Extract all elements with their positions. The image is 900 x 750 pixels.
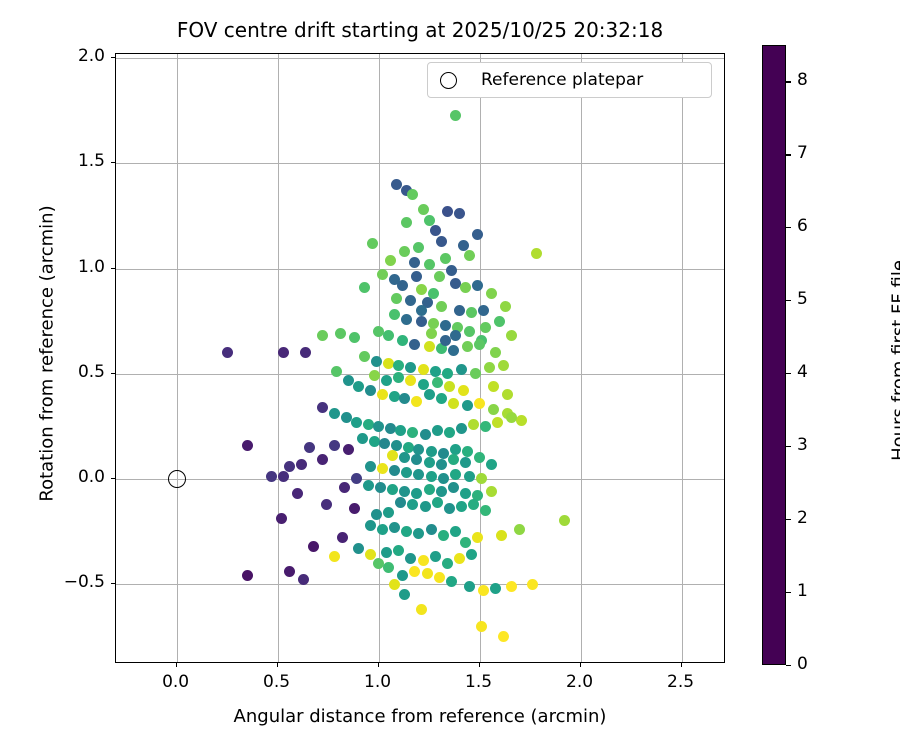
scatter-point xyxy=(242,440,253,451)
scatter-point xyxy=(413,242,424,253)
scatter-point xyxy=(379,438,390,449)
scatter-point xyxy=(516,415,527,426)
scatter-point xyxy=(486,288,497,299)
scatter-point xyxy=(278,347,289,358)
scatter-point xyxy=(474,452,485,463)
scatter-point xyxy=(446,265,457,276)
scatter-point xyxy=(468,419,479,430)
scatter-point xyxy=(359,351,370,362)
scatter-point xyxy=(276,513,287,524)
scatter-point xyxy=(440,335,451,346)
scatter-point xyxy=(448,454,459,465)
scatter-point xyxy=(450,469,461,480)
x-tick-label: 1.0 xyxy=(343,672,413,692)
colorbar-tick-mark xyxy=(786,519,791,520)
scatter-point xyxy=(405,553,416,564)
scatter-point xyxy=(304,442,315,453)
x-tick-label: 2.0 xyxy=(545,672,615,692)
colorbar-tick-label: 2 xyxy=(797,508,808,528)
scatter-point xyxy=(472,280,483,291)
x-gridline xyxy=(682,54,683,662)
scatter-point xyxy=(430,225,441,236)
scatter-point xyxy=(434,572,445,583)
scatter-point xyxy=(401,217,412,228)
scatter-point xyxy=(377,524,388,535)
scatter-point xyxy=(458,240,469,251)
scatter-point xyxy=(460,282,471,293)
scatter-point xyxy=(337,532,348,543)
scatter-point xyxy=(399,452,410,463)
scatter-point xyxy=(456,423,467,434)
scatter-point xyxy=(484,362,495,373)
scatter-point xyxy=(436,301,447,312)
scatter-point xyxy=(284,566,295,577)
colorbar-tick-label: 3 xyxy=(797,435,808,455)
scatter-point xyxy=(399,393,410,404)
scatter-point xyxy=(317,330,328,341)
y-tick-label: 0.0 xyxy=(35,467,105,487)
scatter-point xyxy=(418,204,429,215)
scatter-point xyxy=(426,446,437,457)
scatter-point xyxy=(480,322,491,333)
chart-figure: FOV centre drift starting at 2025/10/25 … xyxy=(0,0,900,750)
y-gridline xyxy=(116,584,724,585)
y-tick-label: 0.5 xyxy=(35,362,105,382)
scatter-point xyxy=(436,236,447,247)
scatter-point xyxy=(389,274,400,285)
scatter-point xyxy=(424,457,435,468)
scatter-point xyxy=(296,459,307,470)
scatter-point xyxy=(365,461,376,472)
scatter-point xyxy=(428,288,439,299)
colorbar-label: Hours from first FF file xyxy=(889,171,900,551)
scatter-point xyxy=(405,362,416,373)
scatter-point xyxy=(399,589,410,600)
scatter-point xyxy=(409,566,420,577)
y-tick-label: 1.5 xyxy=(35,151,105,171)
scatter-point xyxy=(506,581,517,592)
y-tick-mark xyxy=(111,268,115,269)
scatter-point xyxy=(436,393,447,404)
scatter-point xyxy=(405,295,416,306)
scatter-point xyxy=(343,375,354,386)
scatter-point xyxy=(440,320,451,331)
scatter-point xyxy=(351,417,362,428)
y-tick-label: 1.0 xyxy=(35,257,105,277)
scatter-point xyxy=(490,583,501,594)
scatter-point xyxy=(335,328,346,339)
scatter-point xyxy=(416,305,427,316)
colorbar-tick-mark xyxy=(786,227,791,228)
scatter-point xyxy=(506,330,517,341)
scatter-point xyxy=(411,454,422,465)
scatter-point xyxy=(450,526,461,537)
scatter-point xyxy=(430,551,441,562)
x-gridline xyxy=(278,54,279,662)
scatter-point xyxy=(383,507,394,518)
scatter-point xyxy=(373,558,384,569)
colorbar-tick-label: 0 xyxy=(797,654,808,674)
scatter-point xyxy=(428,318,439,329)
chart-title: FOV centre drift starting at 2025/10/25 … xyxy=(115,18,725,42)
scatter-point xyxy=(359,282,370,293)
scatter-point xyxy=(474,398,485,409)
scatter-point xyxy=(329,408,340,419)
scatter-point xyxy=(444,503,455,514)
scatter-point xyxy=(411,488,422,499)
colorbar-tick-mark xyxy=(786,373,791,374)
scatter-point xyxy=(349,503,360,514)
scatter-point xyxy=(462,341,473,352)
scatter-point xyxy=(399,246,410,257)
colorbar-tick-mark xyxy=(786,446,791,447)
scatter-point xyxy=(488,381,499,392)
scatter-point xyxy=(389,309,400,320)
scatter-point xyxy=(395,497,406,508)
scatter-point xyxy=(393,372,404,383)
scatter-point xyxy=(456,501,467,512)
scatter-point xyxy=(393,360,404,371)
scatter-point xyxy=(486,486,497,497)
scatter-point xyxy=(383,562,394,573)
scatter-point xyxy=(375,482,386,493)
scatter-point xyxy=(420,429,431,440)
scatter-point xyxy=(442,558,453,569)
scatter-point xyxy=(466,549,477,560)
scatter-point xyxy=(411,396,422,407)
colorbar-tick-mark xyxy=(786,592,791,593)
scatter-point xyxy=(460,537,471,548)
colorbar-tick-label: 5 xyxy=(797,289,808,309)
x-tick-label: 0.5 xyxy=(242,672,312,692)
scatter-point xyxy=(387,484,398,495)
legend-item-label: Reference platepar xyxy=(481,70,643,90)
scatter-point xyxy=(343,444,354,455)
colorbar-tick-mark xyxy=(786,665,791,666)
colorbar-tick-mark xyxy=(786,81,791,82)
scatter-point xyxy=(474,339,485,350)
scatter-point xyxy=(416,284,427,295)
scatter-point xyxy=(349,332,360,343)
x-gridline xyxy=(177,54,178,662)
scatter-point xyxy=(426,471,437,482)
scatter-point xyxy=(422,568,433,579)
scatter-point xyxy=(363,480,374,491)
colorbar-tick-mark xyxy=(786,154,791,155)
scatter-point xyxy=(442,206,453,217)
scatter-point xyxy=(490,347,501,358)
x-tick-mark xyxy=(580,663,581,667)
scatter-point xyxy=(436,486,447,497)
scatter-point xyxy=(496,530,507,541)
scatter-point xyxy=(464,326,475,337)
x-tick-mark xyxy=(681,663,682,667)
scatter-point xyxy=(438,530,449,541)
x-tick-label: 2.5 xyxy=(646,672,716,692)
colorbar-tick-mark xyxy=(786,300,791,301)
reference-platepar-marker-icon xyxy=(440,72,457,89)
scatter-point xyxy=(407,499,418,510)
scatter-point xyxy=(387,450,398,461)
scatter-point xyxy=(454,305,465,316)
scatter-point xyxy=(466,307,477,318)
scatter-point xyxy=(401,467,412,478)
scatter-point xyxy=(424,341,435,352)
scatter-point xyxy=(266,471,277,482)
scatter-point xyxy=(418,379,429,390)
x-gridline xyxy=(480,54,481,662)
scatter-point xyxy=(365,520,376,531)
scatter-point xyxy=(411,271,422,282)
scatter-point xyxy=(331,366,342,377)
scatter-point xyxy=(480,505,491,516)
scatter-point xyxy=(351,473,362,484)
scatter-point xyxy=(476,473,487,484)
scatter-point xyxy=(383,330,394,341)
scatter-point xyxy=(389,465,400,476)
scatter-point xyxy=(478,305,489,316)
scatter-point xyxy=(448,398,459,409)
scatter-point xyxy=(278,471,289,482)
scatter-point xyxy=(389,522,400,533)
scatter-point xyxy=(514,524,525,535)
scatter-point xyxy=(407,427,418,438)
scatter-point xyxy=(371,356,382,367)
scatter-point xyxy=(448,482,459,493)
scatter-point xyxy=(450,110,461,121)
scatter-point xyxy=(442,368,453,379)
y-gridline xyxy=(116,58,724,59)
scatter-point xyxy=(397,570,408,581)
scatter-point xyxy=(438,473,449,484)
scatter-point xyxy=(413,528,424,539)
scatter-point xyxy=(450,330,461,341)
colorbar xyxy=(762,45,786,665)
scatter-point xyxy=(401,314,412,325)
scatter-point xyxy=(405,375,416,386)
scatter-point xyxy=(424,484,435,495)
scatter-point xyxy=(365,385,376,396)
scatter-point xyxy=(377,463,388,474)
y-tick-mark xyxy=(111,478,115,479)
scatter-point xyxy=(409,257,420,268)
scatter-point xyxy=(413,444,424,455)
x-tick-mark xyxy=(176,663,177,667)
x-tick-label: 0.0 xyxy=(141,672,211,692)
y-tick-label: −0.5 xyxy=(35,572,105,592)
scatter-point xyxy=(436,459,447,470)
y-tick-mark xyxy=(111,57,115,58)
scatter-point xyxy=(416,316,427,327)
colorbar-tick-label: 1 xyxy=(797,581,808,601)
scatter-point xyxy=(434,271,445,282)
scatter-point xyxy=(409,339,420,350)
scatter-point xyxy=(377,269,388,280)
scatter-point xyxy=(454,208,465,219)
scatter-point xyxy=(492,417,503,428)
x-tick-mark xyxy=(277,663,278,667)
scatter-point xyxy=(407,189,418,200)
scatter-point xyxy=(377,389,388,400)
y-tick-mark xyxy=(111,373,115,374)
scatter-point xyxy=(462,400,473,411)
scatter-point xyxy=(418,555,429,566)
scatter-point xyxy=(367,238,378,249)
scatter-point xyxy=(416,604,427,615)
scatter-point xyxy=(371,509,382,520)
scatter-point xyxy=(339,482,350,493)
scatter-point xyxy=(440,253,451,264)
scatter-point xyxy=(321,499,332,510)
scatter-point xyxy=(418,364,429,375)
scatter-point xyxy=(397,335,408,346)
colorbar-tick-label: 6 xyxy=(797,216,808,236)
scatter-point xyxy=(329,551,340,562)
scatter-point xyxy=(317,454,328,465)
scatter-point xyxy=(373,421,384,432)
scatter-point xyxy=(480,421,491,432)
y-gridline xyxy=(116,163,724,164)
scatter-point xyxy=(317,402,328,413)
scatter-point xyxy=(426,524,437,535)
scatter-point xyxy=(446,576,457,587)
scatter-point xyxy=(381,375,392,386)
scatter-point xyxy=(559,515,570,526)
scatter-point xyxy=(531,248,542,259)
scatter-point xyxy=(391,293,402,304)
scatter-point xyxy=(488,404,499,415)
colorbar-gradient xyxy=(763,46,785,664)
scatter-point xyxy=(401,526,412,537)
scatter-point xyxy=(458,385,469,396)
y-tick-label: 2.0 xyxy=(35,46,105,66)
scatter-point xyxy=(500,301,511,312)
scatter-point xyxy=(460,457,471,468)
scatter-point xyxy=(426,328,437,339)
scatter-point xyxy=(498,360,509,371)
scatter-point xyxy=(353,381,364,392)
scatter-point xyxy=(432,377,443,388)
scatter-point xyxy=(399,486,410,497)
colorbar-tick-label: 4 xyxy=(797,362,808,382)
scatter-point xyxy=(395,425,406,436)
scatter-point xyxy=(329,440,340,451)
scatter-point xyxy=(498,631,509,642)
scatter-point xyxy=(478,585,489,596)
scatter-point xyxy=(444,381,455,392)
scatter-point xyxy=(502,389,513,400)
scatter-point xyxy=(381,547,392,558)
y-tick-mark xyxy=(111,583,115,584)
scatter-point xyxy=(472,532,483,543)
scatter-point xyxy=(420,501,431,512)
scatter-point xyxy=(424,389,435,400)
scatter-point xyxy=(444,427,455,438)
scatter-point xyxy=(432,425,443,436)
scatter-point xyxy=(476,621,487,632)
scatter-point xyxy=(393,545,404,556)
scatter-point xyxy=(464,471,475,482)
scatter-point xyxy=(456,364,467,375)
scatter-point xyxy=(454,553,465,564)
scatter-point xyxy=(353,543,364,554)
scatter-point xyxy=(300,347,311,358)
reference-platepar-point xyxy=(168,470,186,488)
plot-axes xyxy=(115,53,725,663)
scatter-point xyxy=(292,488,303,499)
x-tick-label: 1.5 xyxy=(444,672,514,692)
scatter-point xyxy=(464,250,475,261)
scatter-point xyxy=(450,444,461,455)
y-tick-mark xyxy=(111,162,115,163)
scatter-point xyxy=(448,345,459,356)
scatter-point xyxy=(494,316,505,327)
x-gridline xyxy=(581,54,582,662)
scatter-point xyxy=(472,229,483,240)
scatter-point xyxy=(242,570,253,581)
legend: Reference platepar xyxy=(427,62,712,98)
scatter-point xyxy=(385,255,396,266)
scatter-point xyxy=(432,497,443,508)
scatter-point xyxy=(391,440,402,451)
scatter-point xyxy=(438,448,449,459)
scatter-point xyxy=(308,541,319,552)
scatter-point xyxy=(424,215,435,226)
x-tick-mark xyxy=(479,663,480,667)
colorbar-tick-label: 7 xyxy=(797,143,808,163)
scatter-point xyxy=(486,459,497,470)
scatter-point xyxy=(222,347,233,358)
y-gridline xyxy=(116,269,724,270)
scatter-point xyxy=(462,446,473,457)
scatter-point xyxy=(468,499,479,510)
scatter-point xyxy=(424,259,435,270)
scatter-point xyxy=(527,579,538,590)
scatter-point xyxy=(460,488,471,499)
colorbar-tick-label: 8 xyxy=(797,70,808,90)
x-axis-label: Angular distance from reference (arcmin) xyxy=(115,706,725,727)
x-tick-mark xyxy=(378,663,379,667)
scatter-point xyxy=(464,581,475,592)
scatter-point xyxy=(284,461,295,472)
scatter-point xyxy=(357,433,368,444)
scatter-point xyxy=(430,366,441,377)
scatter-point xyxy=(389,579,400,590)
